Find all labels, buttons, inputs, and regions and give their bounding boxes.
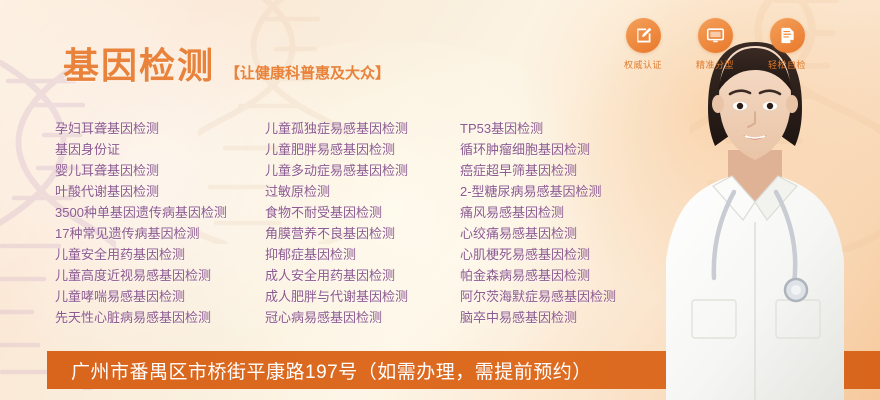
list-item[interactable]: 心绞痛易感基因检测 bbox=[460, 223, 690, 244]
badge-icon-wrap bbox=[698, 18, 733, 53]
list-item[interactable]: 儿童肥胖易感基因检测 bbox=[265, 139, 460, 160]
badge-easy-self-check[interactable]: 轻松自检 bbox=[762, 18, 812, 71]
service-list: 孕妇耳聋基因检测 基因身份证 婴儿耳聋基因检测 叶酸代谢基因检测 3500种单基… bbox=[55, 118, 690, 328]
service-column-2: 儿童孤独症易感基因检测 儿童肥胖易感基因检测 儿童多动症易感基因检测 过敏原检测… bbox=[265, 118, 460, 328]
service-column-3: TP53基因检测 循环肿瘤细胞基因检测 癌症超早筛基因检测 2-型糖尿病易感基因… bbox=[460, 118, 690, 328]
list-item[interactable]: TP53基因检测 bbox=[460, 118, 690, 139]
list-item[interactable]: 基因身份证 bbox=[55, 139, 265, 160]
badge-label: 精准分型 bbox=[696, 58, 734, 71]
page-subtitle: 【让健康科普惠及大众】 bbox=[225, 66, 390, 84]
list-item[interactable]: 儿童多动症易感基因检测 bbox=[265, 160, 460, 181]
badge-authority-certification[interactable]: 权威认证 bbox=[618, 18, 668, 71]
list-item[interactable]: 抑郁症基因检测 bbox=[265, 244, 460, 265]
document-icon bbox=[778, 26, 797, 45]
list-item[interactable]: 过敏原检测 bbox=[265, 181, 460, 202]
list-item[interactable]: 癌症超早筛基因检测 bbox=[460, 160, 690, 181]
list-item[interactable]: 孕妇耳聋基因检测 bbox=[55, 118, 265, 139]
address-text: 广州市番禺区市桥街平康路197号（如需办理，需提前预约） bbox=[47, 357, 592, 384]
list-item[interactable]: 3500种单基因遗传病基因检测 bbox=[55, 202, 265, 223]
list-item[interactable]: 食物不耐受基因检测 bbox=[265, 202, 460, 223]
address-banner: 广州市番禺区市桥街平康路197号（如需办理，需提前预约） bbox=[47, 351, 880, 389]
badge-icon-wrap bbox=[770, 18, 805, 53]
list-item[interactable]: 儿童孤独症易感基因检测 bbox=[265, 118, 460, 139]
page-title: 基因检测 bbox=[63, 48, 215, 84]
list-item[interactable]: 冠心病易感基因检测 bbox=[265, 307, 460, 328]
service-column-1: 孕妇耳聋基因检测 基因身份证 婴儿耳聋基因检测 叶酸代谢基因检测 3500种单基… bbox=[55, 118, 265, 328]
list-item[interactable]: 叶酸代谢基因检测 bbox=[55, 181, 265, 202]
poster-header: 基因检测 【让健康科普惠及大众】 bbox=[63, 48, 390, 84]
list-item[interactable]: 2-型糖尿病易感基因检测 bbox=[460, 181, 690, 202]
list-item[interactable]: 痛风易感基因检测 bbox=[460, 202, 690, 223]
list-item[interactable]: 成人安全用药基因检测 bbox=[265, 265, 460, 286]
list-item[interactable]: 角膜营养不良基因检测 bbox=[265, 223, 460, 244]
list-item[interactable]: 儿童安全用药基因检测 bbox=[55, 244, 265, 265]
list-item[interactable]: 儿童哮喘易感基因检测 bbox=[55, 286, 265, 307]
list-item[interactable]: 成人肥胖与代谢基因检测 bbox=[265, 286, 460, 307]
badge-icon-wrap bbox=[626, 18, 661, 53]
badge-label: 权威认证 bbox=[624, 58, 662, 71]
list-item[interactable]: 帕金森病易感基因检测 bbox=[460, 265, 690, 286]
edit-square-icon bbox=[634, 26, 653, 45]
badge-precise-typing[interactable]: 精准分型 bbox=[690, 18, 740, 71]
list-item[interactable]: 儿童高度近视易感基因检测 bbox=[55, 265, 265, 286]
list-item[interactable]: 阿尔茨海默症易感基因检测 bbox=[460, 286, 690, 307]
badge-label: 轻松自检 bbox=[768, 58, 806, 71]
list-item[interactable]: 先天性心脏病易感基因检测 bbox=[55, 307, 265, 328]
list-item[interactable]: 循环肿瘤细胞基因检测 bbox=[460, 139, 690, 160]
list-item[interactable]: 17种常见遗传病基因检测 bbox=[55, 223, 265, 244]
list-item[interactable]: 婴儿耳聋基因检测 bbox=[55, 160, 265, 181]
monitor-icon bbox=[706, 26, 725, 45]
genetic-testing-poster: 基因检测 【让健康科普惠及大众】 权威认证 精准分型 bbox=[0, 0, 880, 400]
list-item[interactable]: 心肌梗死易感基因检测 bbox=[460, 244, 690, 265]
feature-badges: 权威认证 精准分型 bbox=[618, 18, 812, 71]
list-item[interactable]: 脑卒中易感基因检测 bbox=[460, 307, 690, 328]
